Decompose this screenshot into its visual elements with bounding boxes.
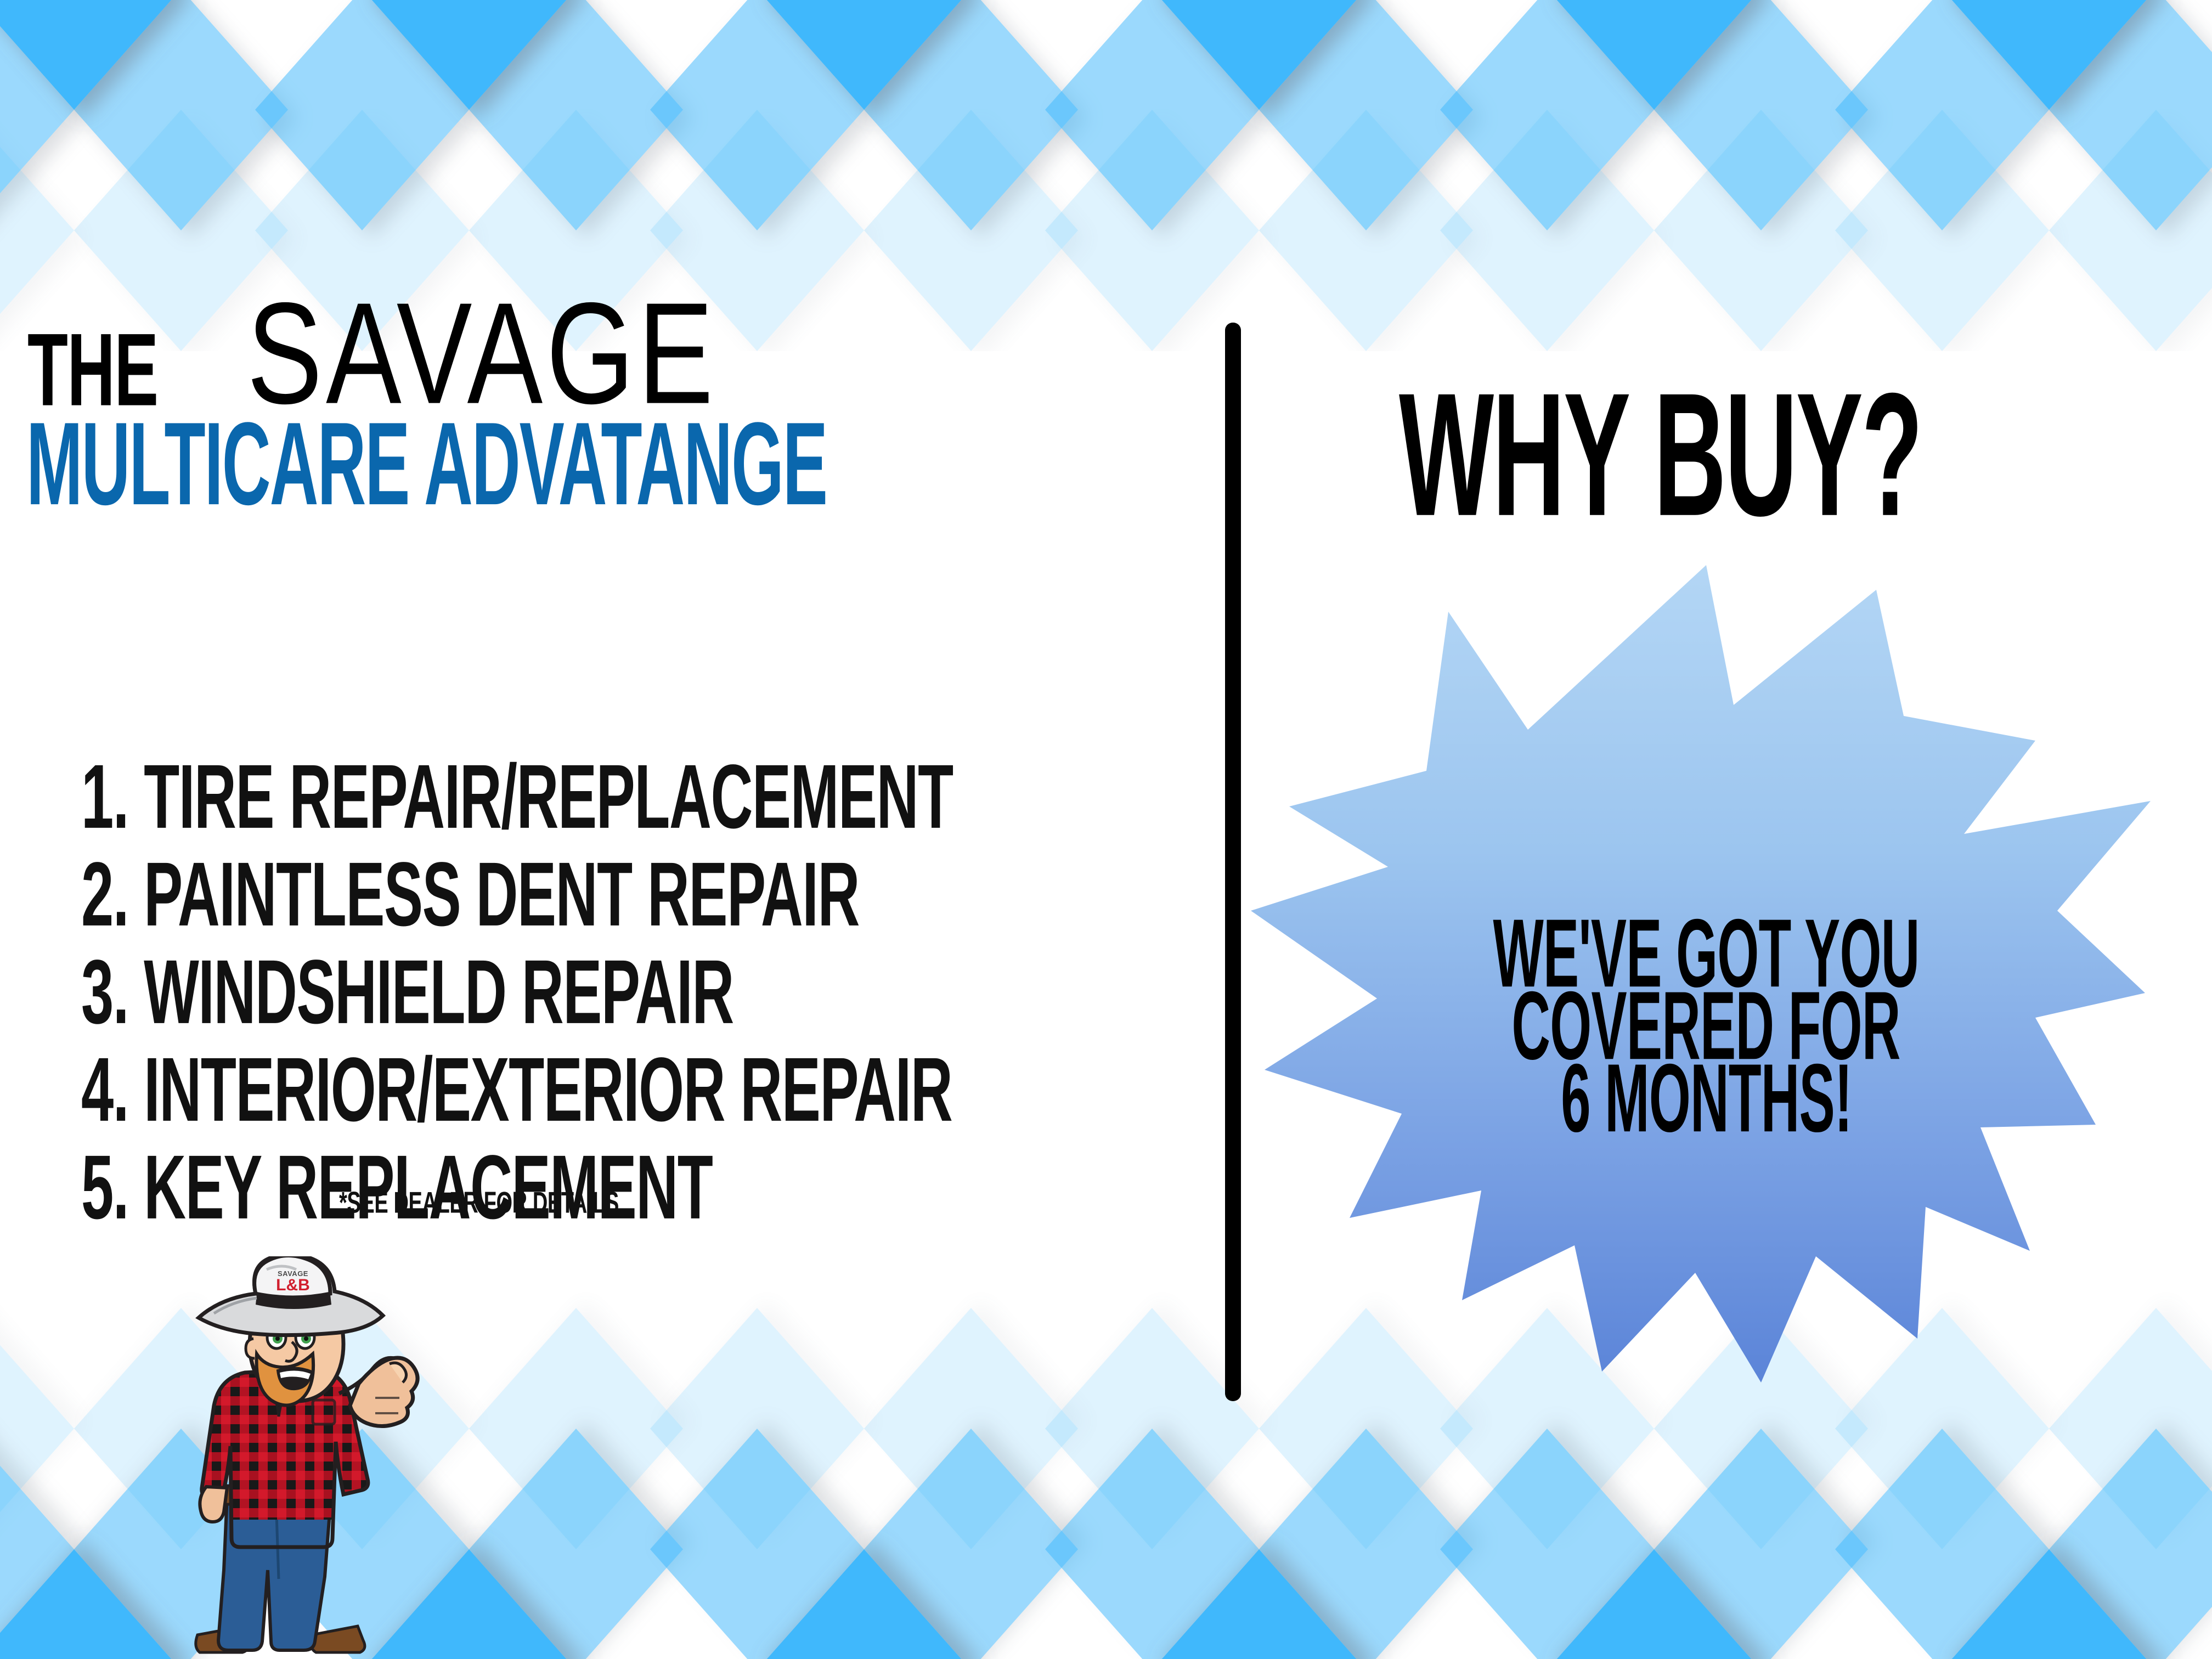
list-item: 1. TIRE REPAIR/REPLACEMENT — [81, 752, 953, 843]
list-item: 2. PAINTLESS DENT REPAIR — [81, 849, 953, 940]
vertical-divider — [1225, 323, 1241, 1401]
list-item: 4. INTERIOR/EXTERIOR REPAIR — [81, 1045, 953, 1136]
title-savage-word: SAVAGE — [247, 294, 717, 413]
starburst-badge: WE'VE GOT YOU COVERED FOR 6 MONTHS! — [1251, 560, 2162, 1393]
starburst-text-block: WE'VE GOT YOU COVERED FOR 6 MONTHS! — [1251, 560, 2162, 1393]
title-subheading: MULTICARE ADVATANGE — [26, 413, 827, 516]
why-buy-headline: WHY BUY? — [1399, 376, 1921, 534]
right-panel: WHY BUY? WE'VE GOT YOU COVERED FOR 6 MON… — [1262, 296, 2212, 1503]
hat-logo-main-text: L&B — [276, 1276, 310, 1294]
brand-title: THE SAVAGE — [27, 296, 834, 413]
disclaimer-text: *SEE DEALER FOR DETAILS — [339, 1185, 619, 1220]
mascot-cowboy-hat: SAVAGE L&B — [199, 1256, 383, 1335]
poster-canvas: THE SAVAGE MULTICARE ADVATANGE 1. TIRE R… — [0, 0, 2212, 1659]
burst-line-3: 6 MONTHS! — [1561, 1050, 1852, 1147]
service-list: 1. TIRE REPAIR/REPLACEMENT 2. PAINTLESS … — [81, 752, 1292, 1240]
mascot-left-hand — [200, 1487, 227, 1522]
mascot-cowboy-illustration: SAVAGE L&B — [174, 1256, 427, 1659]
left-panel: THE SAVAGE MULTICARE ADVATANGE 1. TIRE R… — [0, 296, 1207, 1393]
list-item: 3. WINDSHIELD REPAIR — [81, 947, 953, 1038]
